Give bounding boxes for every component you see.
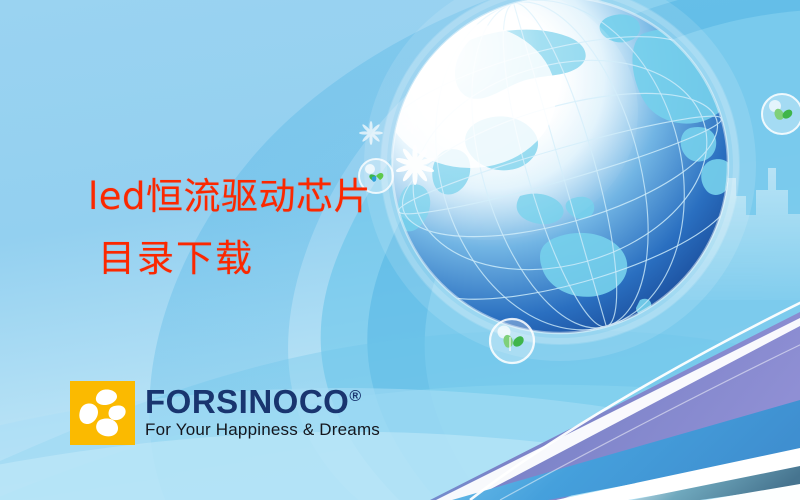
bubble-leaves <box>490 319 534 363</box>
logo-mark-square <box>70 381 135 445</box>
headline-line-1: led恒流驱动芯片 <box>88 166 371 220</box>
logo-text-block: FORSINOCO® For Your Happiness & Dreams <box>145 381 380 440</box>
bubble-leaf-corner <box>762 94 800 134</box>
company-logo[interactable]: FORSINOCO® For Your Happiness & Dreams <box>70 381 380 445</box>
logo-tagline: For Your Happiness & Dreams <box>145 420 380 440</box>
headline-line-2: 目录下载 <box>98 228 254 282</box>
four-petal-pinwheel-icon <box>70 381 135 445</box>
logo-wordmark-text: FORSINOCO <box>145 383 349 420</box>
promotional-banner: led恒流驱动芯片 目录下载 FORSINOCO® <box>0 0 800 500</box>
registered-trademark-icon: ® <box>349 388 361 405</box>
logo-wordmark: FORSINOCO® <box>145 385 380 419</box>
